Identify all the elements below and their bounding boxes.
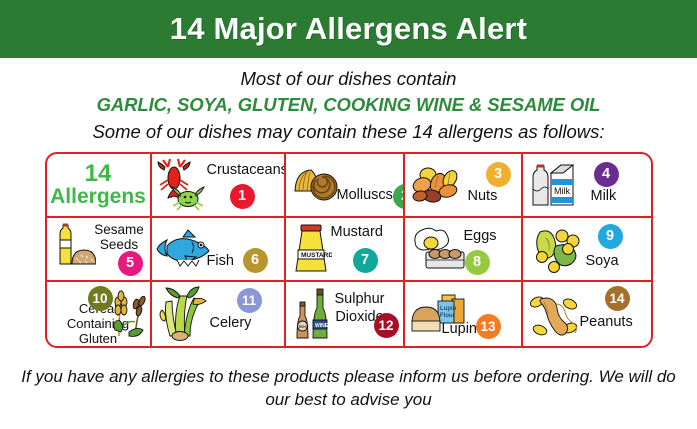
soya-icon (526, 220, 586, 278)
celery-icon (155, 285, 213, 343)
footer-text: If you have any allergies to these produ… (18, 366, 679, 411)
nuts-icon (408, 156, 466, 214)
allergen-badge: 8 (465, 250, 490, 275)
svg-text:MUSTARD: MUSTARD (301, 252, 332, 259)
mustard-icon: MUSTARD (289, 220, 333, 278)
allergen-badge: 2 (393, 184, 403, 209)
svg-text:Beer: Beer (299, 324, 309, 329)
sesame-seeds-icon (50, 220, 96, 278)
allergen-grid-wrapper: 14 Allergens (0, 152, 697, 348)
allergen-label: Milk (591, 189, 617, 205)
allergen-label: Soya (586, 254, 619, 270)
page-title: 14 Major Allergens Alert (170, 11, 527, 47)
allergen-label: Sesame Seeds (92, 223, 147, 252)
allergen-badge: 5 (118, 251, 143, 276)
allergen-cell-fish[interactable]: Fish 6 (150, 218, 284, 280)
allergen-cell-soya[interactable]: Soya 9 (521, 218, 650, 280)
allergen-badge: 4 (594, 162, 619, 187)
svg-text:WINE: WINE (315, 323, 329, 329)
allergen-badge: 3 (486, 162, 511, 187)
svg-text:Flour: Flour (440, 313, 456, 319)
allergen-label: Peanuts (580, 315, 633, 331)
cereal-gluten-icon (109, 284, 149, 342)
header-bar: 14 Major Allergens Alert (0, 0, 697, 58)
allergen-label: Fish (207, 254, 234, 270)
allergen-grid: 14 Allergens (45, 152, 653, 348)
allergen-cell-lupin[interactable]: Lupin Flour Lupin 13 (403, 282, 521, 346)
allergen-alert-poster: 14 Major Allergens Alert Most of our dis… (0, 0, 697, 429)
crustaceans-icon (155, 156, 207, 214)
allergen-label: Mustard (331, 225, 383, 241)
allergen-cell-molluscs[interactable]: Molluscs 2 (284, 154, 403, 216)
table-row: 14 Allergens (47, 154, 651, 216)
grid-title-number: 14 (50, 162, 147, 186)
allergen-cell-nuts[interactable]: Nuts 3 (403, 154, 521, 216)
peanuts-icon (526, 285, 584, 343)
allergen-label: Crustaceans (207, 163, 277, 179)
allergen-badge: 1 (230, 184, 255, 209)
allergen-badge: 11 (237, 288, 262, 313)
allergen-cell-celery[interactable]: Celery 11 (150, 282, 284, 346)
molluscs-icon (289, 156, 341, 214)
svg-text:Milk: Milk (554, 186, 570, 196)
subtitle-line-2-emphasis: GARLIC, SOYA, GLUTEN, COOKING WINE & SES… (0, 93, 697, 117)
allergen-cell-mustard[interactable]: MUSTARD Mustard 7 (284, 218, 403, 280)
allergen-cell-sesame-seeds[interactable]: Sesame Seeds 5 (47, 218, 150, 280)
grid-title-cell: 14 Allergens (47, 154, 150, 216)
allergen-badge: 6 (243, 248, 268, 273)
table-row: Cereal Containing Gluten 10 (47, 280, 651, 346)
allergen-badge: 12 (374, 313, 399, 338)
allergen-cell-crustaceans[interactable]: Crustaceans 1 (150, 154, 284, 216)
allergen-badge: 13 (476, 314, 501, 339)
subtitle-line-3: Some of our dishes may contain these 14 … (0, 120, 697, 144)
allergen-label: Eggs (464, 229, 497, 245)
allergen-cell-peanuts[interactable]: Peanuts 14 (521, 282, 650, 346)
allergen-cell-sulphur-dioxide[interactable]: Beer WINE Sulphur Dioxide 12 (284, 282, 403, 346)
subtitle-block: Most of our dishes contain GARLIC, SOYA,… (0, 58, 697, 144)
sulphur-dioxide-icon: Beer WINE (289, 285, 333, 343)
subtitle-line-1: Most of our dishes contain (0, 67, 697, 91)
allergen-badge: 7 (353, 248, 378, 273)
footer-disclaimer: If you have any allergies to these produ… (0, 348, 697, 429)
table-row: Sesame Seeds 5 (47, 216, 651, 280)
allergen-cell-eggs[interactable]: Eggs 8 (403, 218, 521, 280)
allergen-label: Molluscs (337, 188, 393, 204)
svg-text:Lupin: Lupin (440, 306, 457, 312)
allergen-label: Lupin (442, 322, 477, 338)
allergen-label: Nuts (468, 189, 498, 205)
allergen-badge: 14 (605, 286, 630, 311)
allergen-badge: 9 (598, 224, 623, 249)
allergen-cell-milk[interactable]: Milk Milk 4 (521, 154, 650, 216)
eggs-icon (408, 220, 468, 278)
grid-title-word: Allergens (50, 186, 147, 208)
allergen-label: Celery (210, 316, 252, 332)
milk-icon: Milk (526, 156, 582, 214)
allergen-cell-cereal-gluten[interactable]: Cereal Containing Gluten 10 (47, 282, 150, 346)
